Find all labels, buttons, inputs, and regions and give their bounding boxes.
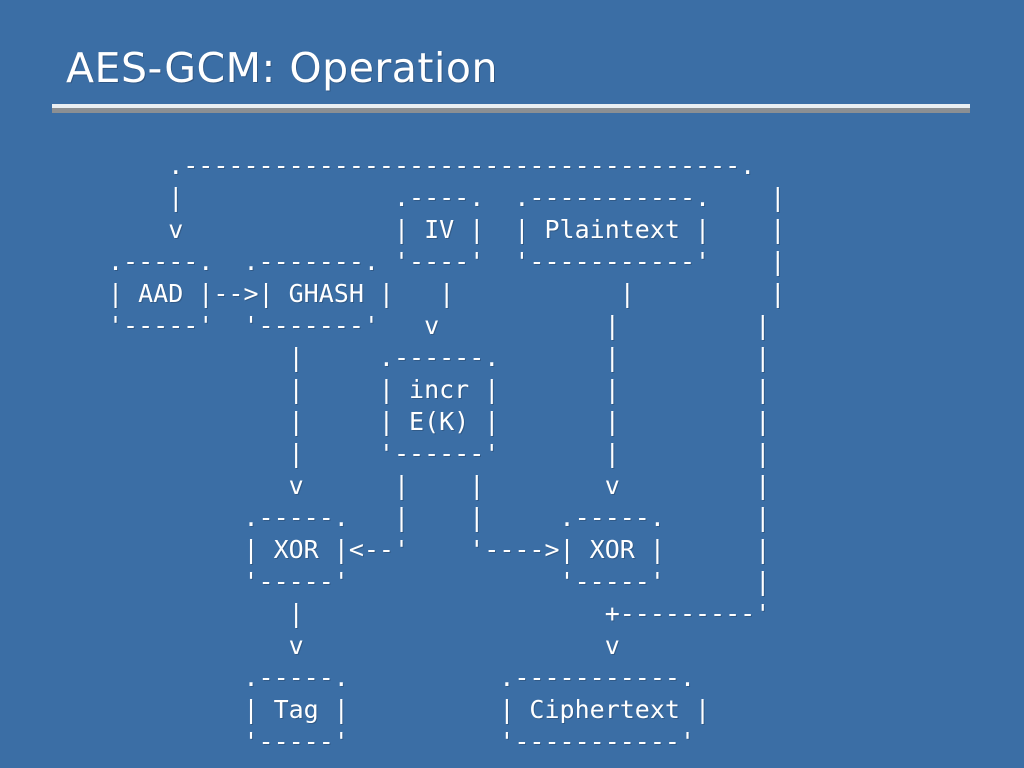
slide-canvas: { "slide": { "title": "AES-GCM: Operatio… bbox=[0, 0, 1024, 768]
aes-gcm-flow-diagram: .-------------------------------------. … bbox=[108, 150, 785, 758]
title-divider-shadow bbox=[52, 108, 970, 113]
page-title: AES-GCM: Operation bbox=[66, 44, 498, 92]
